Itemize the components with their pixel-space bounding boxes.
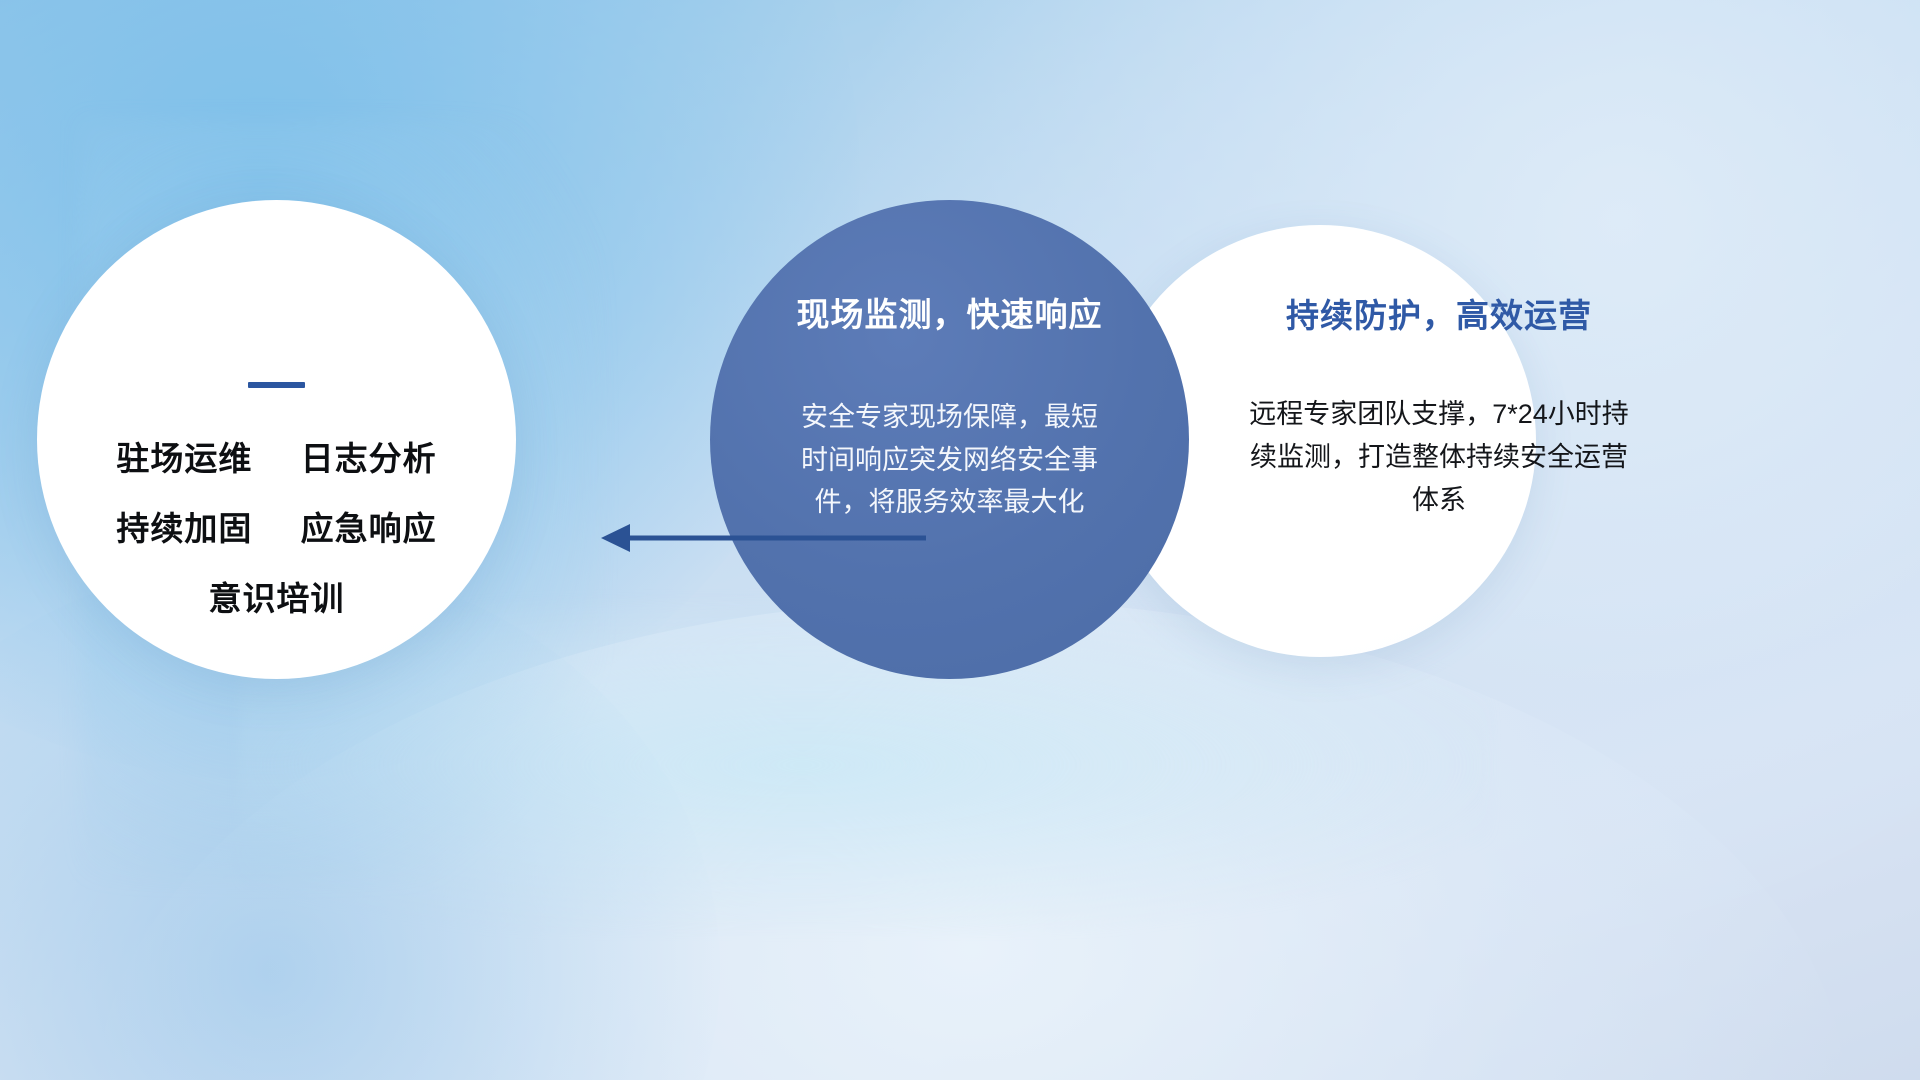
- middle-circle-title: 现场监测，快速响应: [797, 288, 1103, 336]
- right-circle-title: 持续防护，高效运营: [1286, 289, 1592, 337]
- capability-circle-left[interactable]: 驻场运维 日志分析 持续加固 应急响应 意识培训: [37, 200, 516, 679]
- right-circle-content: 持续防护，高效运营 远程专家团队支撑，7*24小时持续监测，打造整体持续安全运营…: [1224, 289, 1654, 523]
- diagram-stage: 驻场运维 日志分析 持续加固 应急响应 意识培训 持续防护，高效运营 远程专家团…: [0, 0, 1920, 1080]
- capability-tag-emergency-response: 应急响应: [301, 510, 437, 547]
- capability-tag-log-analysis: 日志分析: [301, 440, 437, 477]
- divider-dash-icon: [248, 382, 305, 388]
- capability-list: 驻场运维 日志分析 持续加固 应急响应 意识培训: [37, 432, 516, 620]
- capability-tag-continuous-hardening: 持续加固: [116, 510, 252, 547]
- flow-arrow-left-icon: [596, 512, 926, 564]
- capability-tag-onsite-ops: 驻场运维: [116, 440, 252, 477]
- capability-tag-awareness-training: 意识培训: [209, 580, 345, 617]
- capability-row-2: 持续加固 应急响应: [37, 502, 516, 550]
- capability-row-1: 驻场运维 日志分析: [37, 432, 516, 480]
- capability-circle-middle[interactable]: 现场监测，快速响应 安全专家现场保障，最短时间响应突发网络安全事件，将服务效率最…: [710, 200, 1189, 679]
- right-circle-body: 远程专家团队支撑，7*24小时持续监测，打造整体持续安全运营体系: [1244, 393, 1634, 523]
- capability-row-3: 意识培训: [37, 572, 516, 620]
- middle-circle-body: 安全专家现场保障，最短时间响应突发网络安全事件，将服务效率最大化: [800, 396, 1100, 524]
